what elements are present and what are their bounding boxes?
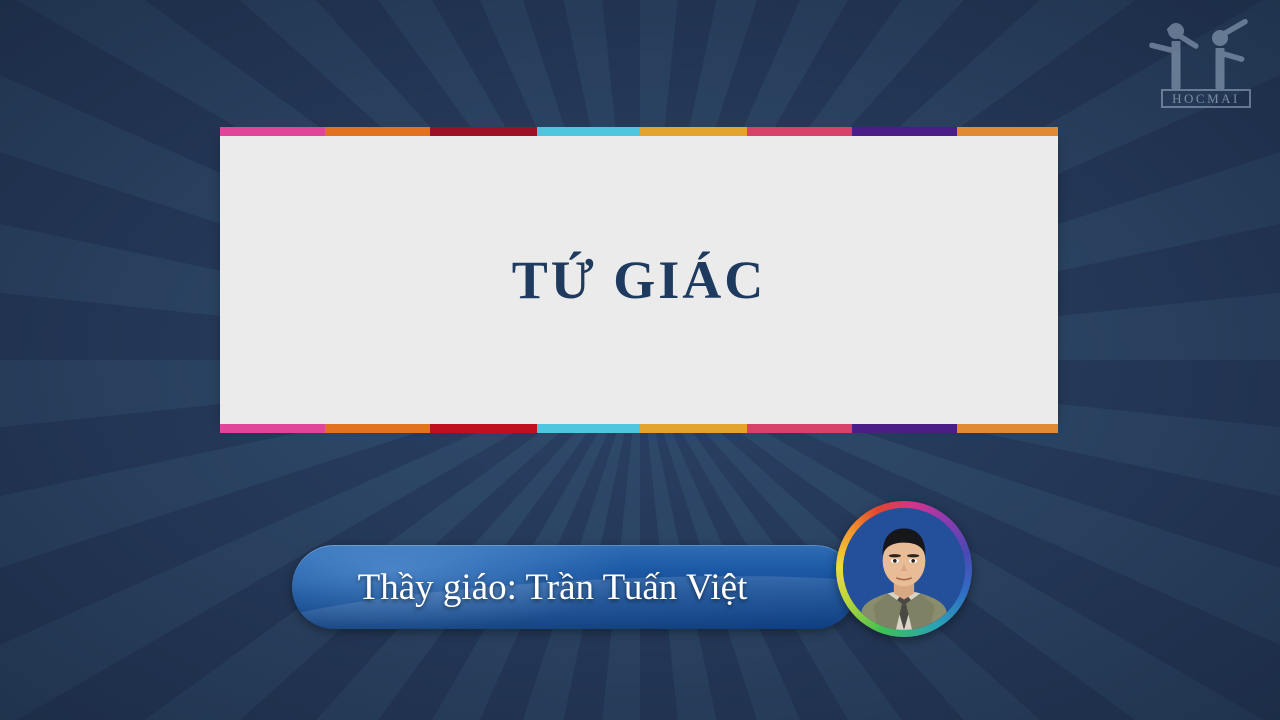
stripe-magenta: [220, 127, 325, 136]
stripe-crimson: [747, 127, 852, 136]
stripe-cyan: [537, 424, 640, 433]
stripe-magenta: [220, 424, 325, 433]
stripe-orange: [325, 424, 430, 433]
hocmai-logo: HOCMAI: [1148, 14, 1264, 110]
stripe-dark-red: [430, 424, 537, 433]
stripe-orange: [325, 127, 430, 136]
slide-stage: HOCMAI TỨ GIÁC Thầy giáo: Trần Tu: [0, 0, 1280, 720]
card-top-stripe: [220, 127, 1058, 136]
stripe-purple: [852, 127, 957, 136]
card-bottom-stripe: [220, 424, 1058, 433]
presenter-avatar: [836, 501, 972, 637]
stripe-cyan: [537, 127, 640, 136]
stripe-amber: [640, 424, 747, 433]
title-card: TỨ GIÁC: [220, 136, 1058, 424]
page-title: TỨ GIÁC: [220, 136, 1058, 424]
logo-wordmark-text: HOCMAI: [1172, 91, 1240, 106]
logo-figures-icon: [1149, 18, 1249, 89]
stripe-purple: [852, 424, 957, 433]
stripe-crimson: [747, 424, 852, 433]
presenter-avatar-photo: [843, 508, 965, 630]
stripe-dark-red: [430, 127, 537, 136]
presenter-portrait-icon: [843, 508, 965, 630]
stripe-amber: [640, 127, 747, 136]
stripe-orange-2: [957, 127, 1058, 136]
stripe-orange-2: [957, 424, 1058, 433]
presenter-name-banner: Thầy giáo: Trần Tuấn Việt: [292, 545, 857, 629]
presenter-name-text: Thầy giáo: Trần Tuấn Việt: [292, 545, 857, 629]
